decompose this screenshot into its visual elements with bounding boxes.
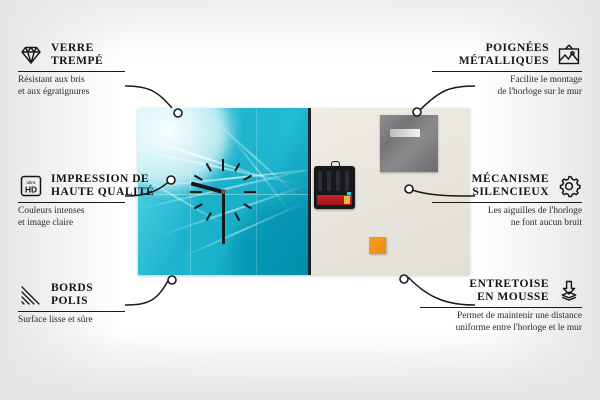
feature-rule xyxy=(18,202,125,203)
feature-title-line2: TREMPÉ xyxy=(51,55,103,68)
feature-rule xyxy=(432,71,582,72)
picture-frame-icon xyxy=(556,43,582,67)
feature-title-line2: POLIS xyxy=(51,295,93,308)
feature-subtitle-line2: et aux égratignures xyxy=(18,87,168,99)
feature-mecanisme-silencieux: MÉCANISME SILENCIEUX Les aiguilles de l'… xyxy=(432,173,582,229)
feature-title-line1: MÉCANISME xyxy=(472,173,549,186)
clock-minute-hand xyxy=(222,192,225,244)
product-photo xyxy=(138,108,470,275)
feature-subtitle-line1: Couleurs intenses xyxy=(18,206,178,218)
feature-rule xyxy=(18,71,125,72)
feature-subtitle-line1: Les aiguilles de l'horloge xyxy=(432,206,582,218)
feature-title-line1: VERRE xyxy=(51,42,103,55)
feature-bords-polis: BORDS POLIS Surface lisse et sûre xyxy=(18,282,168,327)
feature-subtitle-line2: de l'horloge sur le mur xyxy=(432,87,582,99)
feature-subtitle-line1: Facilite le montage xyxy=(432,75,582,87)
feature-subtitle-line2: uniforme entre l'horloge et le mur xyxy=(420,323,582,335)
feature-poignees-metalliques: POIGNÉES MÉTALLIQUES Facilite le montage… xyxy=(432,42,582,98)
clock-center-pin xyxy=(221,189,226,194)
ultra-hd-icon: ultra HD xyxy=(18,174,44,198)
feature-rule xyxy=(432,202,582,203)
feature-verre-trempe: VERRE TREMPÉ Résistant aux bris et aux é… xyxy=(18,42,168,98)
feature-impression-haute-qualite: ultra HD IMPRESSION DE HAUTE QUALITÉ Cou… xyxy=(18,173,178,229)
feature-subtitle-line1: Permet de maintenir une distance xyxy=(420,311,582,323)
gear-icon xyxy=(556,174,582,198)
feature-title-line1: BORDS xyxy=(51,282,93,295)
feature-rule xyxy=(18,311,125,312)
feature-title-line2: MÉTALLIQUES xyxy=(459,55,549,68)
feature-subtitle-line1: Surface lisse et sûre xyxy=(18,315,168,327)
vignette-bottom xyxy=(0,330,600,400)
feature-title-line1: ENTRETOISE xyxy=(469,278,549,291)
feature-entretoise-en-mousse: ENTRETOISE EN MOUSSE Permet de maintenir… xyxy=(420,278,582,334)
feature-rule xyxy=(420,307,582,308)
feature-title-line2: EN MOUSSE xyxy=(469,291,549,304)
feature-subtitle-line2: ne font aucun bruit xyxy=(432,218,582,230)
metal-bracket-part xyxy=(380,115,438,172)
polished-edge-icon xyxy=(18,283,44,307)
infographic-canvas: VERRE TREMPÉ Résistant aux bris et aux é… xyxy=(0,0,600,400)
feature-title-line1: POIGNÉES xyxy=(459,42,549,55)
clock-mechanism-part xyxy=(314,166,355,209)
diamond-icon xyxy=(18,43,44,67)
foam-spacer-icon xyxy=(556,279,582,303)
feature-title-line2: HAUTE QUALITÉ xyxy=(51,186,154,199)
svg-text:HD: HD xyxy=(25,185,37,195)
feature-subtitle-line2: et image claire xyxy=(18,218,178,230)
feature-title-line1: IMPRESSION DE xyxy=(51,173,154,186)
feature-subtitle-line1: Résistant aux bris xyxy=(18,75,168,87)
foam-spacer-part xyxy=(369,237,386,254)
feature-title-line2: SILENCIEUX xyxy=(472,186,549,199)
